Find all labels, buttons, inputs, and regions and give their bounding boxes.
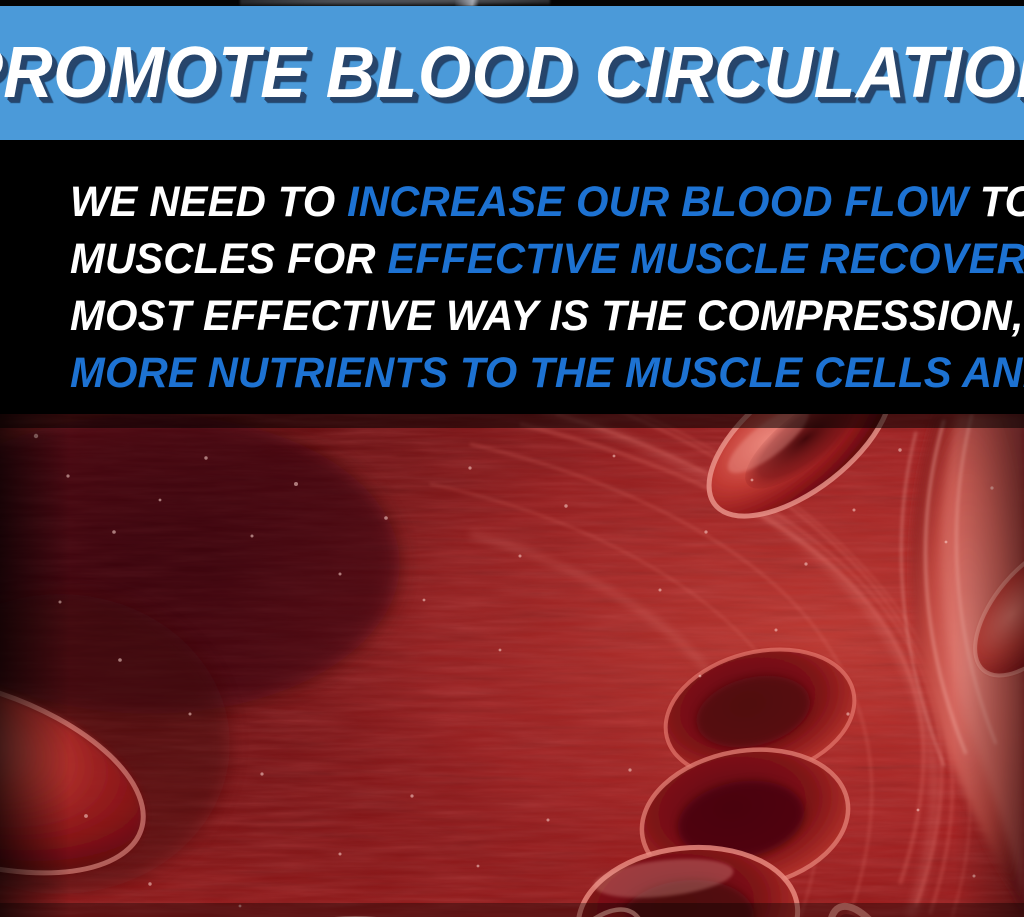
page-title: PROMOTE BLOOD CIRCULATION <box>0 37 1024 109</box>
body-line-3-part-1: MOST EFFECTIVE WAY IS THE COMPRESSION, B… <box>70 292 1024 340</box>
body-line-1-highlight: INCREASE OUR BLOOD FLOW <box>347 178 968 226</box>
body-text-lines: WE NEED TO INCREASE OUR BLOOD FLOW TO TH… <box>70 174 970 402</box>
body-line-1-part-2: TO THE <box>968 178 1024 226</box>
blood-cells-photo <box>0 414 1024 917</box>
body-line-1: WE NEED TO INCREASE OUR BLOOD FLOW TO TH… <box>70 174 943 231</box>
body-line-3: MOST EFFECTIVE WAY IS THE COMPRESSION, B… <box>70 288 943 345</box>
body-line-2-highlight: EFFECTIVE MUSCLE RECOVERY <box>387 235 1024 283</box>
blood-vessel-illustration <box>0 414 1024 917</box>
promote-blood-circulation-poster: PROMOTE BLOOD CIRCULATION WE NEED TO INC… <box>0 0 1024 917</box>
body-line-2: MUSCLES FOR EFFECTIVE MUSCLE RECOVERY AN… <box>70 231 943 288</box>
body-line-2-part-1: MUSCLES FOR <box>70 235 387 283</box>
body-line-4: MORE NUTRIENTS TO THE MUSCLE CELLS AND F… <box>70 345 943 402</box>
body-line-1-part-1: WE NEED TO <box>70 178 347 226</box>
header-banner: PROMOTE BLOOD CIRCULATION <box>0 6 1024 140</box>
body-line-4-highlight: MORE NUTRIENTS TO THE MUSCLE CELLS AND F… <box>70 349 1024 397</box>
body-text-block: WE NEED TO INCREASE OUR BLOOD FLOW TO TH… <box>0 140 1024 414</box>
